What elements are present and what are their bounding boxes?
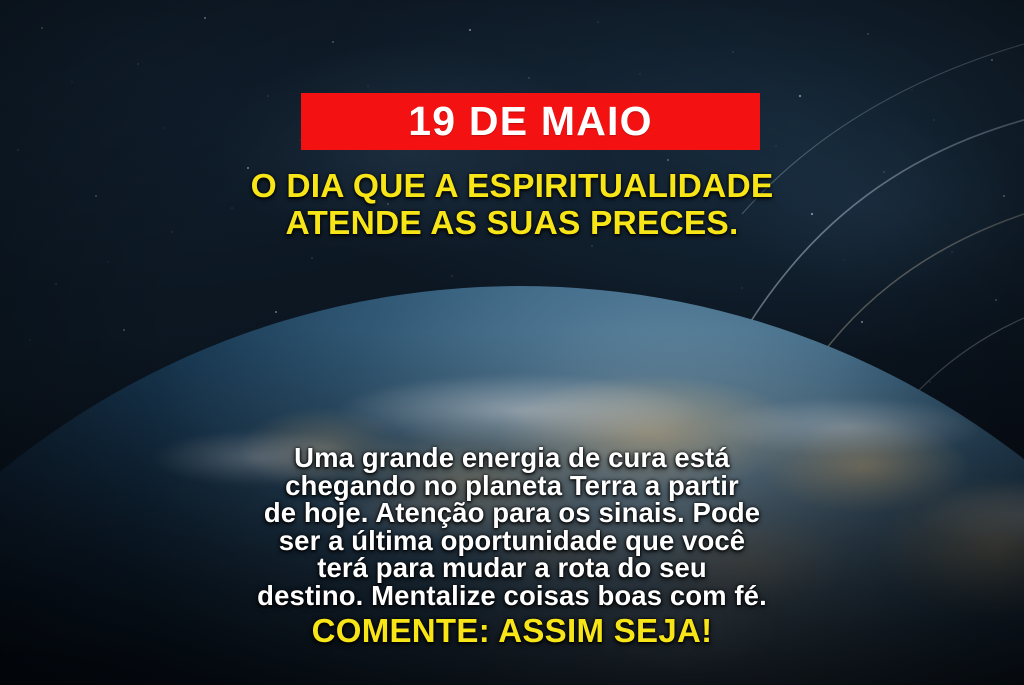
- headline: O DIA QUE A ESPIRITUALIDADE ATENDE AS SU…: [0, 168, 1024, 242]
- body-line-3: de hoje. Atenção para os sinais. Pode: [72, 499, 952, 527]
- headline-line-1: O DIA QUE A ESPIRITUALIDADE: [0, 168, 1024, 205]
- body-line-5: terá para mudar a rota do seu: [72, 554, 952, 582]
- call-to-action: COMENTE: ASSIM SEJA!: [0, 613, 1024, 649]
- date-banner-label: 19 DE MAIO: [408, 101, 652, 142]
- call-to-action-label: COMENTE: ASSIM SEJA!: [312, 612, 713, 649]
- inspirational-poster: 19 DE MAIO O DIA QUE A ESPIRITUALIDADE A…: [0, 0, 1024, 685]
- body-line-2: chegando no planeta Terra a partir: [72, 472, 952, 500]
- body-line-6: destino. Mentalize coisas boas com fé.: [72, 582, 952, 610]
- body-line-1: Uma grande energia de cura está: [72, 444, 952, 472]
- date-banner: 19 DE MAIO: [301, 93, 760, 150]
- poster-content: 19 DE MAIO O DIA QUE A ESPIRITUALIDADE A…: [0, 0, 1024, 685]
- body-paragraph: Uma grande energia de cura está chegando…: [72, 444, 952, 609]
- body-line-4: ser a última oportunidade que você: [72, 527, 952, 555]
- headline-line-2: ATENDE AS SUAS PRECES.: [0, 205, 1024, 242]
